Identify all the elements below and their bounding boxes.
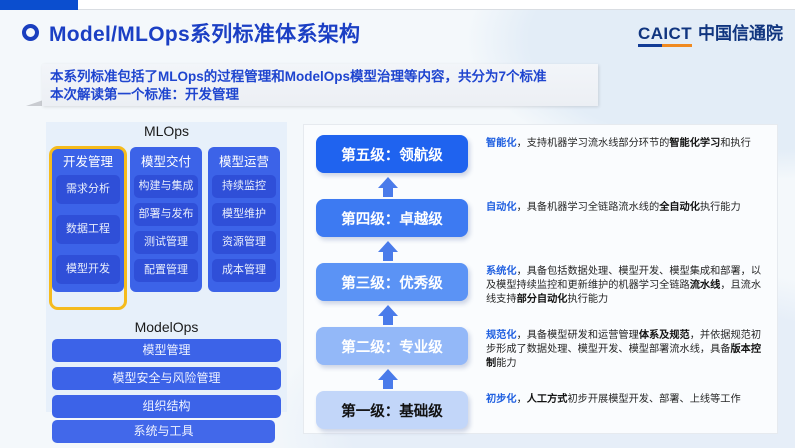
mlops-sub-item[interactable]: 数据工程	[56, 215, 120, 244]
logo-underline-blue	[638, 44, 662, 47]
top-strip	[0, 0, 795, 10]
mlops-sub-item[interactable]: 测试管理	[134, 231, 198, 254]
modelops-bar[interactable]: 组织结构	[52, 395, 281, 418]
maturity-level-box[interactable]: 第三级：优秀级	[316, 263, 468, 301]
mlops-column-head: 模型运营	[212, 151, 276, 175]
modelops-section: ModelOps 模型管理模型安全与风险管理组织结构	[52, 318, 281, 423]
up-arrow-icon	[378, 177, 398, 199]
modelops-bar[interactable]: 模型安全与风险管理	[52, 367, 281, 390]
maturity-level-description: 自动化，具备机器学习全链路流水线的全自动化执行能力	[468, 199, 768, 215]
mlops-panel: MLOps 开发管理需求分析数据工程模型开发模型交付构建与集成部署与发布测试管理…	[46, 122, 287, 412]
mlops-column-head: 开发管理	[56, 151, 120, 175]
mlops-sub-item[interactable]: 需求分析	[56, 175, 120, 204]
ring-icon	[22, 24, 39, 41]
maturity-level-box[interactable]: 第二级：专业级	[316, 327, 468, 365]
logo-name-label: 中国信通院	[698, 25, 783, 47]
mlops-title: MLOps	[46, 122, 287, 140]
subtitle-banner: 本系列标准包括了MLOps的过程管理和ModelOps模型治理等内容，共分为7个…	[42, 64, 598, 106]
logo-underline-orange	[662, 44, 692, 47]
maturity-level-box[interactable]: 第五级：领航级	[316, 135, 468, 173]
maturity-level-description: 系统化，具备包括数据处理、模型开发、模型集成和部署，以及模型持续监控和更新维护的…	[468, 263, 768, 307]
mlops-sub-item[interactable]: 成本管理	[212, 259, 276, 282]
maturity-level-box[interactable]: 第一级：基础级	[316, 391, 468, 429]
mlops-column-2[interactable]: 模型交付构建与集成部署与发布测试管理配置管理	[130, 147, 202, 292]
maturity-level-description: 初步化，人工方式初步开展模型开发、部署、上线等工作	[468, 391, 768, 407]
banner-line-2: 本次解读第一个标准：开发管理	[50, 86, 588, 104]
mlops-sub-item[interactable]: 部署与发布	[134, 203, 198, 226]
maturity-level-row-3: 第三级：优秀级系统化，具备包括数据处理、模型开发、模型集成和部署，以及模型持续监…	[316, 263, 768, 307]
mlops-sub-item[interactable]: 构建与集成	[134, 175, 198, 198]
slide-canvas: Model/MLOps系列标准体系架构 CAICT 中国信通院 本系列标准包括了…	[0, 0, 795, 448]
mlops-sub-item[interactable]: 模型开发	[56, 255, 120, 284]
banner-line-1: 本系列标准包括了MLOps的过程管理和ModelOps模型治理等内容，共分为7个…	[50, 68, 588, 86]
maturity-level-row-4: 第四级：卓越级自动化，具备机器学习全链路流水线的全自动化执行能力	[316, 199, 768, 237]
maturity-level-description: 智能化，支持机器学习流水线部分环节的智能化学习和执行	[468, 135, 768, 151]
maturity-level-description: 规范化，具备模型研发和运营管理体系及规范，并依据规范初步形成了数据处理、模型开发…	[468, 327, 768, 371]
caict-logo: CAICT 中国信通院	[638, 25, 783, 47]
modelops-title: ModelOps	[52, 318, 281, 336]
maturity-level-row-1: 第一级：基础级初步化，人工方式初步开展模型开发、部署、上线等工作	[316, 391, 768, 429]
mlops-sub-item[interactable]: 资源管理	[212, 231, 276, 254]
maturity-level-row-5: 第五级：领航级智能化，支持机器学习流水线部分环节的智能化学习和执行	[316, 135, 768, 173]
modelops-bars: 模型管理模型安全与风险管理组织结构	[52, 339, 281, 418]
up-arrow-icon	[378, 241, 398, 263]
mlops-column-head: 模型交付	[134, 151, 198, 175]
logo-mark-label: CAICT	[638, 24, 692, 43]
up-arrow-icon	[378, 369, 398, 391]
mlops-columns: 开发管理需求分析数据工程模型开发模型交付构建与集成部署与发布测试管理配置管理模型…	[52, 147, 281, 292]
top-accent-bar	[0, 0, 78, 10]
maturity-panel: 第五级：领航级智能化，支持机器学习流水线部分环节的智能化学习和执行第四级：卓越级…	[303, 124, 778, 434]
maturity-level-box[interactable]: 第四级：卓越级	[316, 199, 468, 237]
slide-header: Model/MLOps系列标准体系架构 CAICT 中国信通院	[0, 12, 795, 56]
logo-mark-text: CAICT	[638, 25, 692, 47]
mlops-sub-item[interactable]: 配置管理	[134, 259, 198, 282]
up-arrow-icon	[378, 305, 398, 327]
mlops-sub-item[interactable]: 模型维护	[212, 203, 276, 226]
maturity-level-row-2: 第二级：专业级规范化，具备模型研发和运营管理体系及规范，并依据规范初步形成了数据…	[316, 327, 768, 371]
mlops-sub-item[interactable]: 持续监控	[212, 175, 276, 198]
mlops-column-1[interactable]: 开发管理需求分析数据工程模型开发	[52, 147, 124, 292]
modelops-bar[interactable]: 模型管理	[52, 339, 281, 362]
system-tools-bar[interactable]: 系统与工具	[52, 420, 275, 443]
mlops-column-3[interactable]: 模型运营持续监控模型维护资源管理成本管理	[208, 147, 280, 292]
page-title: Model/MLOps系列标准体系架构	[49, 18, 360, 48]
